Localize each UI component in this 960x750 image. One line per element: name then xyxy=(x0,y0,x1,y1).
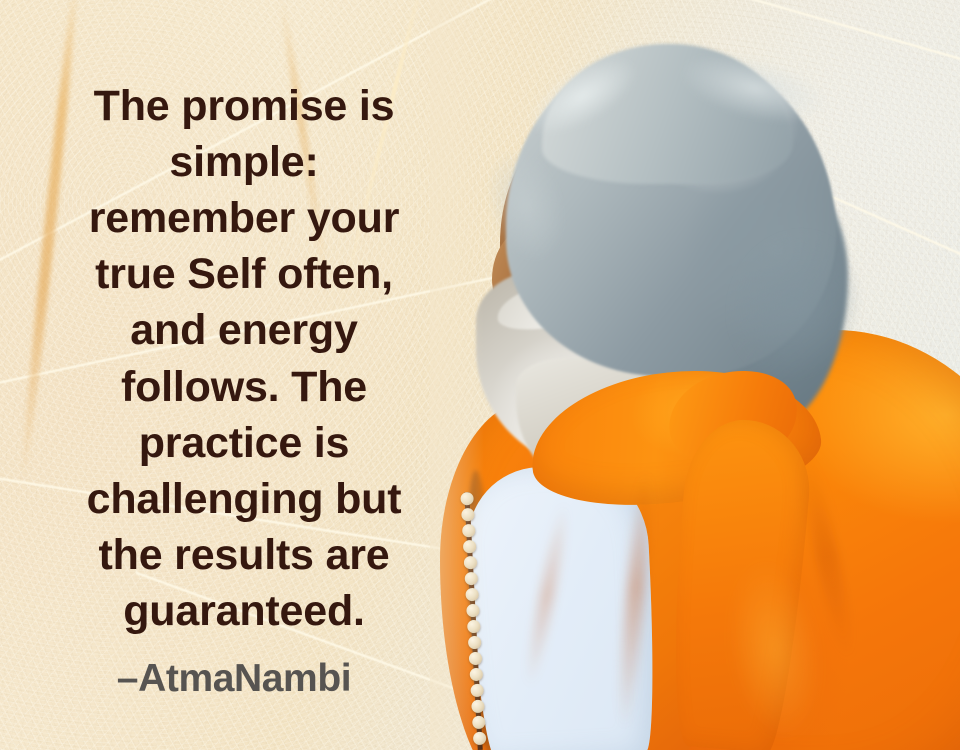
mala-bead xyxy=(470,684,484,698)
mala-bead xyxy=(464,572,478,586)
mala-bead xyxy=(460,492,474,506)
mala-bead xyxy=(465,588,479,602)
quote-line: true Self often, xyxy=(34,246,454,302)
mala-bead xyxy=(463,540,477,554)
portrait-photo xyxy=(430,0,960,750)
quote-text: The promise issimple:remember yourtrue S… xyxy=(34,78,454,639)
quote-line: The promise is xyxy=(34,78,454,134)
quote-line: the results are xyxy=(34,527,454,583)
quote-line: challenging but xyxy=(34,471,454,527)
mala-bead xyxy=(461,508,475,522)
quote-line: and energy xyxy=(34,302,454,358)
quote-line: remember your xyxy=(34,190,454,246)
quote-line: practice is xyxy=(34,415,454,471)
mala-bead xyxy=(472,716,486,730)
quote-block: The promise issimple:remember yourtrue S… xyxy=(34,78,454,639)
mala-bead xyxy=(467,620,481,634)
mala-bead xyxy=(466,604,480,618)
mala-bead xyxy=(462,524,476,538)
quote-line: guaranteed. xyxy=(34,583,454,639)
mala-bead xyxy=(473,732,487,746)
mala-bead xyxy=(471,700,485,714)
mala-bead xyxy=(469,668,483,682)
mala-bead xyxy=(464,556,478,570)
quote-line: follows. The xyxy=(34,359,454,415)
quote-line: simple: xyxy=(34,134,454,190)
mala-bead xyxy=(469,652,483,666)
attribution-text: –AtmaNambi xyxy=(34,657,434,701)
quote-card: The promise issimple:remember yourtrue S… xyxy=(0,0,960,750)
mala-bead xyxy=(468,636,482,650)
